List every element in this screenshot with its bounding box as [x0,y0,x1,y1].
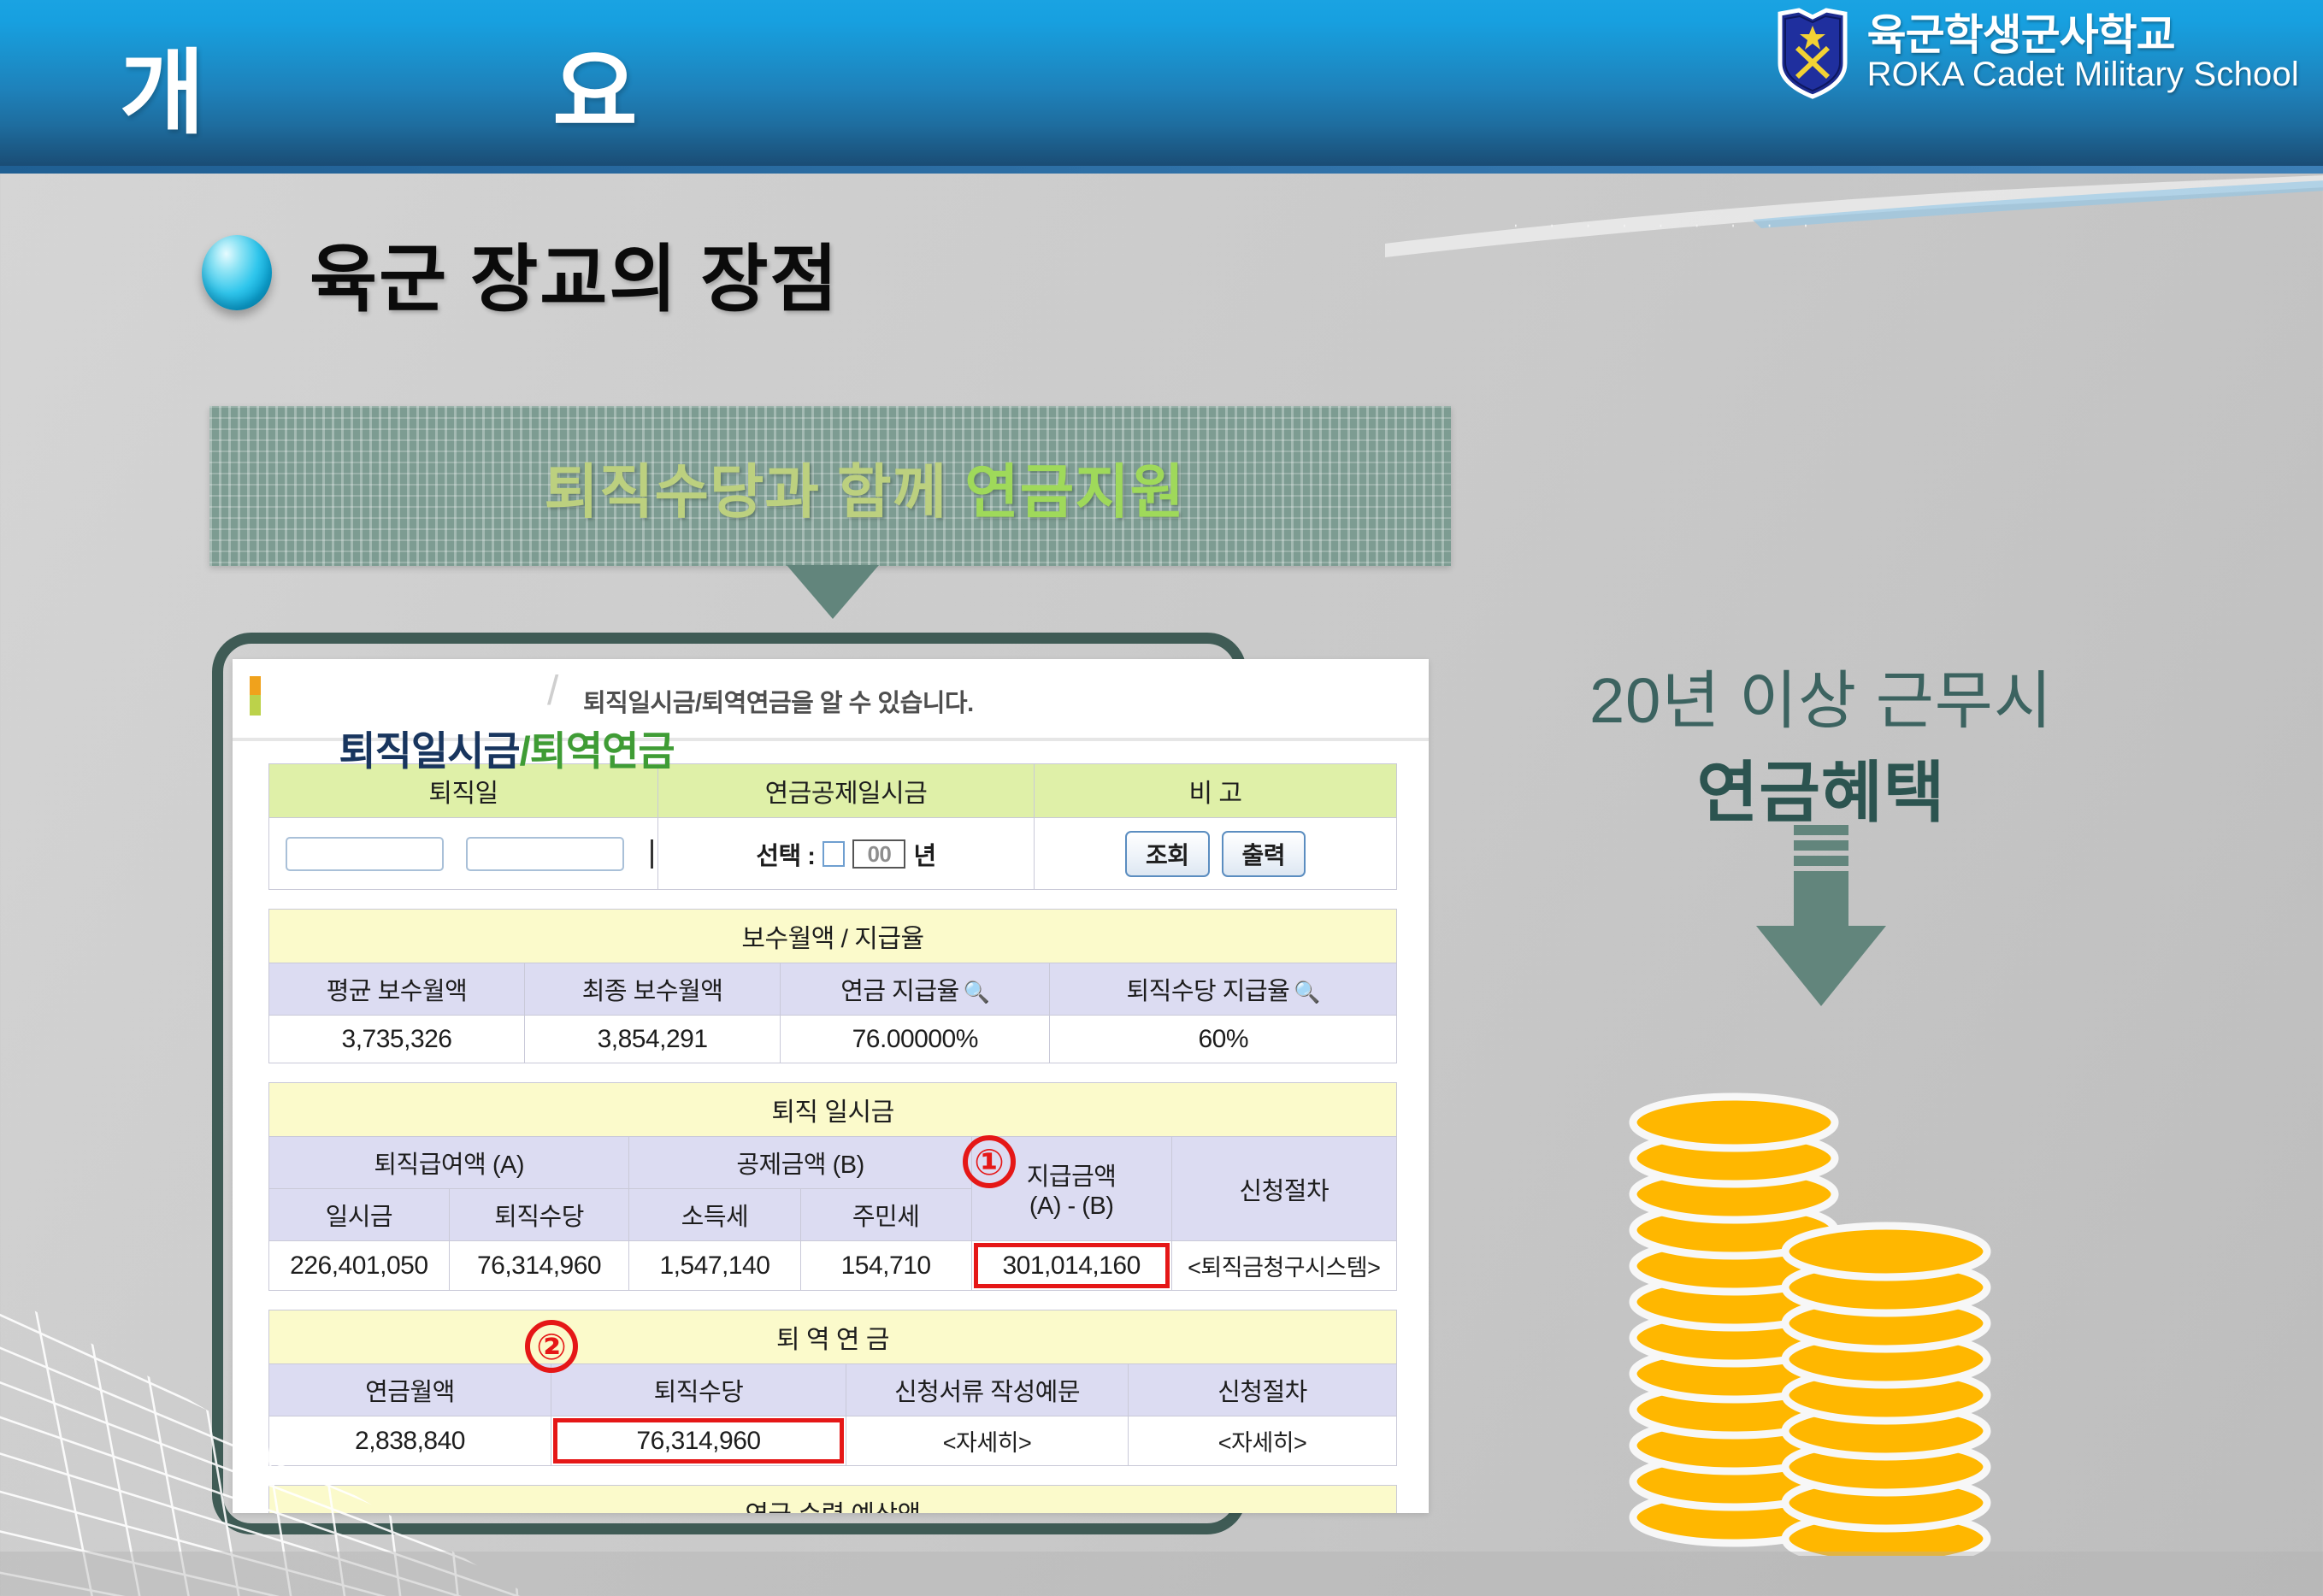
table-caption-row: 연금 수령 예상액 [269,1486,1397,1514]
marker-1: ① [963,1135,1016,1188]
table-header-row: 퇴직급여액 (A) 공제금액 (B) 지급금액 (A) - (B) 신청절차 [269,1137,1397,1189]
year-input[interactable]: 00 [852,839,905,869]
text-cursor-icon [651,839,653,869]
lumpsum-table: 퇴직 일시금 퇴직급여액 (A) 공제금액 (B) 지급금액 (A) - (B)… [268,1082,1397,1291]
bottom-shadow-band [0,1552,2323,1596]
table-caption-row: 보수월액 / 지급율 [269,910,1397,963]
remarks-cell: 조회출력 [1035,818,1397,890]
retirement-date-cell [269,818,658,890]
header-accent-bar-icon [250,676,261,716]
th-severance-pay: 퇴직수당 [551,1364,846,1416]
table-header-row: 연금월액 퇴직수당 신청서류 작성예문 신청절차 [269,1364,1397,1416]
table-caption-row: 퇴 역 연 금 [269,1310,1397,1364]
caption-pension-estimate: 연금 수령 예상액 [269,1486,1397,1514]
th-severance-pay: 퇴직수당 [449,1189,629,1241]
th-pension-rate: 연금 지급율🔍 [781,963,1050,1016]
logo-name-english: ROKA Cadet Military School [1867,57,2299,92]
title-separator-icon: / [547,668,558,715]
td-severance-rate: 60% [1050,1016,1397,1063]
salary-payrate-table: 보수월액 / 지급율 평균 보수월액 최종 보수월액 연금 지급율🔍 퇴직수당 … [268,909,1397,1063]
pension-benefit-line2: 연금혜택 [1522,739,2120,835]
magnifier-icon[interactable]: 🔍 [1294,981,1320,1004]
shield-crest-icon [1773,7,1852,99]
table-caption-row: 퇴직 일시금 [269,1083,1397,1137]
td-pension-rate: 76.00000% [781,1016,1050,1063]
td-severance-pay-highlighted: 76,314,960 [551,1416,846,1466]
pension-estimate-table: 연금 수령 예상액 연금월액 공제금액 지급금액 소득세 산출 방식 소득세 주… [268,1485,1397,1513]
th-application-docs: 신청서류 작성예문 [846,1364,1129,1416]
slide-title-row: 육군 장교의 장점 [202,219,840,326]
th-group-deduction-b: 공제금액 (B) [629,1137,971,1189]
caption-lumpsum: 퇴직 일시금 [269,1083,1397,1137]
logo-name-korean: 육군학생군사학교 [1867,14,2299,57]
banner-text-part2: 연금지원 [964,459,1185,525]
pension-deduction-cell: 선택 : 00 년 [658,818,1035,890]
th-lumpsum: 일시금 [269,1189,450,1241]
select-label: 선택 : [756,836,815,872]
pension-calculator-screenshot: 퇴직일시금/퇴역연금 / 퇴직일시금/퇴역연금을 알 수 있습니다. 퇴직일 연… [233,659,1429,1513]
th-procedure: 신청절차 [1129,1364,1397,1416]
highlight-banner: 퇴직수당과 함께 연금지원 [209,406,1451,566]
td-payment-amount-highlighted: 301,014,160 [971,1241,1171,1291]
table-row: 2,838,840 76,314,960 <자세히> <자세히> [269,1416,1397,1466]
date-input-2[interactable] [466,837,624,871]
table-row: 선택 : 00 년 조회출력 [269,818,1397,890]
caption-pension: 퇴 역 연 금 [269,1310,1397,1364]
th-procedure: 신청절차 [1171,1137,1396,1241]
app-title-part2: /퇴역연금 [520,728,675,774]
th-severance-rate: 퇴직수당 지급율🔍 [1050,963,1397,1016]
caption-salary-payrate: 보수월액 / 지급율 [269,910,1397,963]
th-monthly-pension: 연금월액 [269,1364,551,1416]
app-subtitle: 퇴직일시금/퇴역연금을 알 수 있습니다. [583,683,974,719]
td-monthly-pension: 2,838,840 [269,1416,551,1466]
table-header-row: 평균 보수월액 최종 보수월액 연금 지급율🔍 퇴직수당 지급율🔍 [269,963,1397,1016]
app-page-header: 퇴직일시금/퇴역연금 / 퇴직일시금/퇴역연금을 알 수 있습니다. [233,659,1429,741]
banner-text-part1: 퇴직수당과 함께 [545,459,965,525]
td-resident-tax: 154,710 [800,1241,971,1291]
select-checkbox[interactable] [822,841,845,867]
th-income-tax: 소득세 [629,1189,800,1241]
page-title: 육군 장교의 장점 [310,219,840,326]
th-group-benefit-a: 퇴직급여액 (A) [269,1137,629,1189]
th-resident-tax: 주민세 [800,1189,971,1241]
school-logo: 육군학생군사학교 ROKA Cadet Military School [1773,7,2299,99]
table-row: 3,735,326 3,854,291 76.00000% 60% [269,1016,1397,1063]
banner-arrow-icon [787,565,879,619]
pension-benefit-line1: 20년 이상 근무시 [1522,650,2120,741]
header-title: 개 요 [120,19,665,152]
th-avg-salary: 평균 보수월액 [269,963,525,1016]
td-income-tax: 1,547,140 [629,1241,800,1291]
td-avg-salary: 3,735,326 [269,1016,525,1063]
th-pension-deduction: 연금공제일시금 [658,764,1035,818]
td-application-docs-link[interactable]: <자세히> [846,1416,1129,1466]
td-procedure-link[interactable]: <퇴직금청구시스템> [1171,1241,1396,1291]
td-procedure-link[interactable]: <자세히> [1129,1416,1397,1466]
table-row: 226,401,050 76,314,960 1,547,140 154,710… [269,1241,1397,1291]
th-final-salary: 최종 보수월액 [525,963,781,1016]
coin-stack-icon [1620,983,1996,1556]
app-title-part1: 퇴직일시금 [339,728,519,774]
th-remarks: 비 고 [1035,764,1397,818]
dotted-line-decoration: · · · · · · · · · [1513,216,1822,233]
td-severance-pay: 76,314,960 [449,1241,629,1291]
marker-2: ② [525,1320,578,1373]
search-button[interactable]: 조회 [1125,831,1210,877]
header-bar: 개 요 육군학생군사학교 ROKA Cadet Military School [0,0,2323,174]
td-lumpsum: 226,401,050 [269,1241,450,1291]
magnifier-icon[interactable]: 🔍 [964,981,990,1004]
year-suffix-label: 년 [913,836,935,872]
print-button[interactable]: 출력 [1222,831,1306,877]
sphere-bullet-icon [202,235,272,310]
date-input-1[interactable] [286,837,444,871]
pension-table: 퇴 역 연 금 연금월액 퇴직수당 신청서류 작성예문 신청절차 2,838,8… [268,1310,1397,1466]
td-final-salary: 3,854,291 [525,1016,781,1063]
